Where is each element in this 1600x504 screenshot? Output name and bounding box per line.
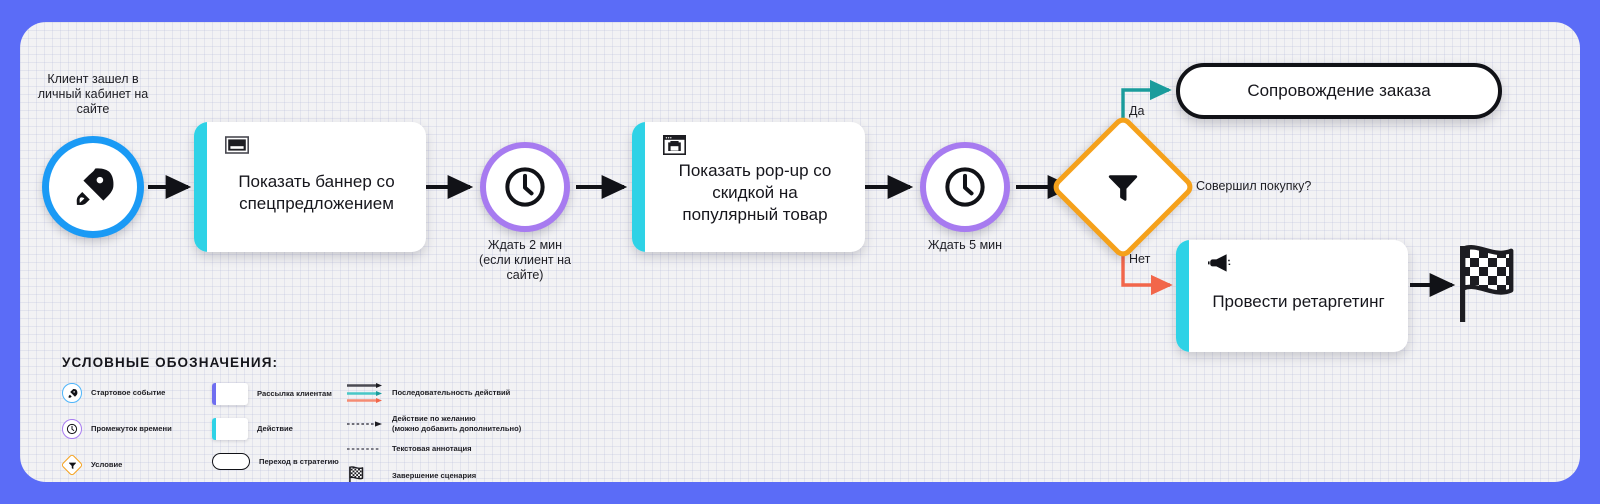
start-caption: Клиент зашел в личный кабинет на сайте: [24, 72, 162, 117]
screenshot-root: Клиент зашел в личный кабинет на сайте П…: [0, 0, 1600, 504]
node-popup-card[interactable]: Показать pop-up со скидкой на популярный…: [632, 122, 865, 252]
node-timer-1[interactable]: Ждать 2 мин (если клиент на сайте): [480, 142, 570, 232]
clock-icon: [62, 419, 82, 439]
card-mailing-icon: [212, 383, 248, 405]
legend-label: Завершение сценария: [392, 471, 476, 481]
legend-label: Действие по желанию (можно добавить допо…: [392, 414, 521, 433]
card-label: Провести ретаргетинг: [1212, 291, 1384, 313]
card-label: Показать баннер со спецпредложением: [238, 171, 394, 215]
legend-item-start-event: Стартовое событие: [62, 383, 212, 403]
checkered-flag-icon: [347, 465, 383, 483]
legend-item-condition: Условие: [62, 455, 212, 475]
strategy-pill-label: Сопровождение заказа: [1247, 81, 1430, 101]
legend-item-mailing: Рассылка клиентам: [212, 383, 347, 405]
legend-column-cards: Рассылка клиентам Действие Переход в стр…: [212, 383, 347, 482]
funnel-icon: [62, 455, 82, 475]
legend-item-sequence: Последовательность действий: [347, 383, 647, 403]
node-banner-card[interactable]: Показать баннер со спецпредложением: [194, 122, 426, 252]
timer-2-caption: Ждать 5 мин: [896, 238, 1034, 253]
legend: УСЛОВНЫЕ ОБОЗНАЧЕНИЯ: Стартовое событие: [62, 355, 1062, 482]
flowchart-canvas: Клиент зашел в личный кабинет на сайте П…: [20, 22, 1580, 482]
checkered-flag-icon: [1452, 240, 1524, 324]
card-action-icon: [212, 418, 248, 440]
node-retargeting-card[interactable]: Провести ретаргетинг: [1176, 240, 1408, 352]
clock-icon: [502, 164, 548, 210]
pill-icon: [212, 453, 250, 470]
arrow-stack-icon: [347, 383, 383, 403]
node-condition[interactable]: [1071, 135, 1175, 239]
dotted-line-icon: [347, 447, 383, 451]
node-finish[interactable]: [1452, 240, 1524, 329]
legend-label: Стартовое событие: [91, 388, 165, 398]
condition-diamond[interactable]: [1071, 135, 1175, 239]
timer-1-caption: Ждать 2 мин (если клиент на сайте): [456, 238, 594, 283]
legend-label: Действие: [257, 424, 293, 434]
funnel-icon: [1071, 135, 1175, 239]
legend-item-finish: Завершение сценария: [347, 465, 647, 483]
node-start[interactable]: Клиент зашел в личный кабинет на сайте: [42, 136, 144, 238]
legend-label: Рассылка клиентам: [257, 389, 332, 399]
edge-label-yes: Да: [1129, 104, 1144, 118]
card-body: Показать pop-up со скидкой на популярный…: [645, 122, 865, 252]
legend-title: УСЛОВНЫЕ ОБОЗНАЧЕНИЯ:: [62, 355, 1062, 370]
card-accent-bar: [212, 383, 216, 405]
card-body: Показать баннер со спецпредложением: [207, 122, 426, 252]
condition-question-label: Совершил покупку?: [1196, 179, 1311, 193]
megaphone-icon: [1207, 252, 1233, 274]
condition-shape: [62, 455, 82, 475]
legend-label: Текстовая аннотация: [392, 444, 472, 454]
legend-label: Переход в стратегию: [259, 457, 339, 467]
dashed-arrow-icon: [347, 421, 383, 427]
banner-icon: [225, 134, 251, 156]
card-accent-bar: [1176, 240, 1189, 352]
card-accent-bar: [632, 122, 645, 252]
legend-label: Условие: [91, 460, 122, 470]
legend-column-shapes: Стартовое событие Промежуток времени: [62, 383, 212, 482]
timer-circle[interactable]: [480, 142, 570, 232]
legend-label: Промежуток времени: [91, 424, 172, 434]
clock-icon: [942, 164, 988, 210]
edge-label-no: Нет: [1129, 252, 1150, 266]
card-label: Показать pop-up со скидкой на популярный…: [679, 160, 832, 226]
legend-item-optional-action: Действие по желанию (можно добавить допо…: [347, 414, 647, 433]
node-timer-2[interactable]: Ждать 5 мин: [920, 142, 1010, 232]
node-strategy-pill[interactable]: Сопровождение заказа: [1176, 63, 1502, 119]
legend-item-action: Действие: [212, 418, 347, 440]
legend-item-annotation: Текстовая аннотация: [347, 444, 647, 454]
legend-label: Последовательность действий: [392, 388, 510, 398]
rocket-icon: [62, 383, 82, 403]
legend-column-connectors: Последовательность действий Действие по …: [347, 383, 647, 482]
start-circle[interactable]: [42, 136, 144, 238]
card-accent-bar: [194, 122, 207, 252]
legend-item-strategy: Переход в стратегию: [212, 453, 347, 470]
card-body: Провести ретаргетинг: [1189, 240, 1408, 352]
legend-item-time-interval: Промежуток времени: [62, 419, 212, 439]
timer-circle[interactable]: [920, 142, 1010, 232]
card-accent-bar: [212, 418, 216, 440]
rocket-icon: [70, 164, 116, 210]
popup-window-icon: [663, 134, 689, 156]
